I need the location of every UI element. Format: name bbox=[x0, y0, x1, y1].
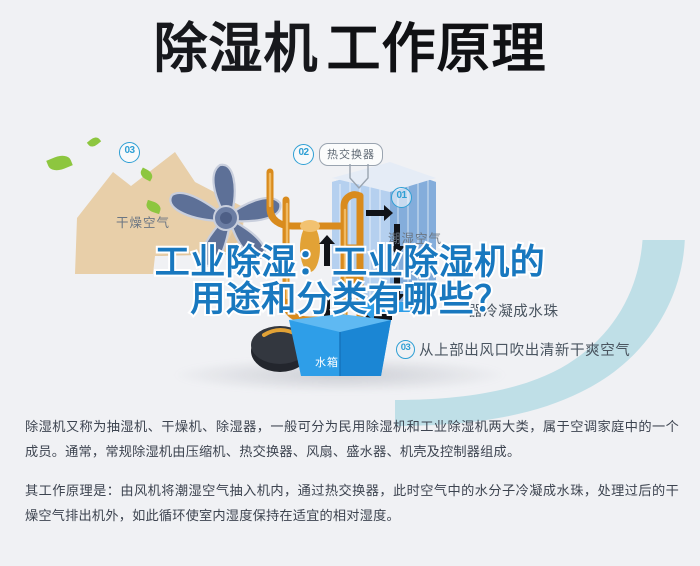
title-secondary: 工作原理 bbox=[327, 19, 547, 79]
water-tank-svg bbox=[285, 314, 395, 386]
title-primary: 除湿机 bbox=[154, 19, 319, 79]
overlay-line-2: 用途和分类有哪些？ bbox=[0, 281, 700, 318]
water-tank-illustration: 水箱 bbox=[285, 314, 395, 386]
body-copy: 除湿机又称为抽湿机、干燥机、除湿器，一般可分为民用除湿机和工业除湿机两大类，属于… bbox=[25, 414, 679, 542]
callout-pointer-icon bbox=[348, 164, 370, 190]
water-tank-label: 水箱 bbox=[315, 354, 339, 370]
heat-exchanger-callout: 热交换器 bbox=[319, 143, 383, 166]
caption-badge-03: 03 bbox=[396, 340, 415, 359]
body-paragraph-2: 其工作原理是：由风机将潮湿空气抽入机内，通过热交换器，此时空气中的水分子冷凝成水… bbox=[25, 478, 679, 528]
infographic-page: 除湿机工作原理 bbox=[0, 0, 700, 566]
caption-03-text: 从上部出风口吹出清新干爽空气 bbox=[419, 339, 630, 360]
badge-02: 02 bbox=[293, 144, 314, 165]
dry-air-label: 干燥空气 bbox=[116, 212, 170, 231]
body-paragraph-1: 除湿机又称为抽湿机、干燥机、除湿器，一般可分为民用除湿机和工业除湿机两大类，属于… bbox=[25, 414, 679, 464]
page-title: 除湿机工作原理 bbox=[0, 22, 700, 76]
overlay-headline: 工业除湿：工业除湿机的 用途和分类有哪些？ bbox=[0, 244, 700, 319]
badge-01: 01 bbox=[391, 187, 412, 208]
overlay-line-1: 工业除湿：工业除湿机的 bbox=[0, 244, 700, 281]
badge-03: 03 bbox=[119, 142, 140, 163]
